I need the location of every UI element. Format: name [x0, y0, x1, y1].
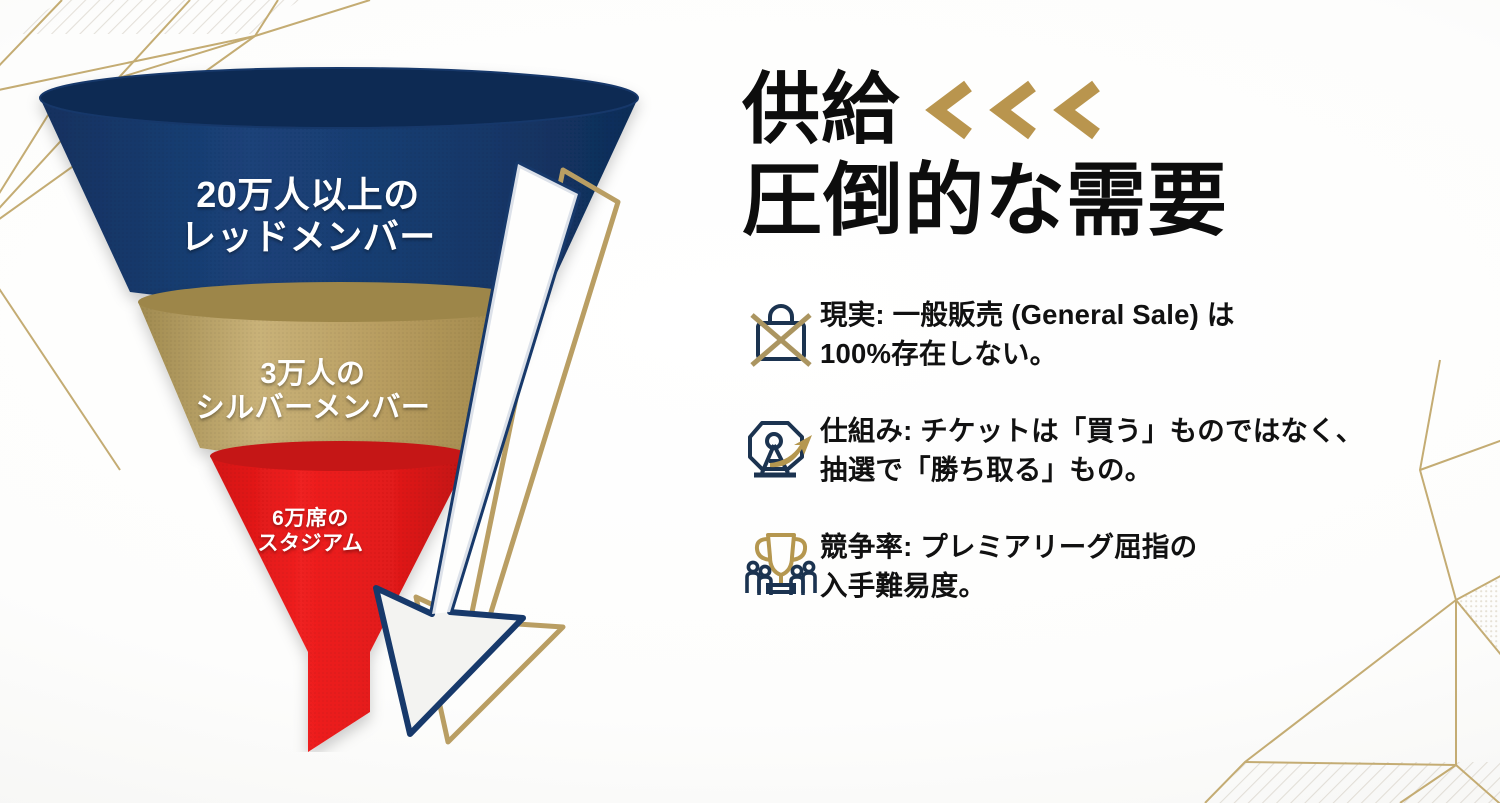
headline: 供給 圧倒的な需要 — [742, 70, 1462, 241]
no-shopping-bag-icon — [742, 293, 820, 369]
bullet-text: 仕組み: チケットは「買う」ものではなく、 抽選で「勝ち取る」もの。 — [820, 409, 1364, 489]
slide-canvas: 20万人以上の レッドメンバー 3万人の シルバーメンバー 6万席の スタジアム… — [0, 0, 1500, 803]
headline-line-2: 圧倒的な需要 — [742, 160, 1228, 242]
bullet-text: 競争率: プレミアリーグ屈指の 入手難易度。 — [820, 525, 1197, 605]
content-column: 供給 圧倒的な需要 — [742, 70, 1462, 641]
bullet-list: 現実: 一般販売 (General Sale) は 100%存在しない。 仕組み… — [742, 293, 1462, 605]
chevron-left-icon — [1050, 78, 1106, 142]
hatch-band-top-left — [10, 0, 300, 34]
chevron-left-icons — [922, 78, 1106, 142]
hatch-band-bottom-right — [1212, 762, 1500, 803]
trophy-crowd-icon — [742, 525, 820, 601]
headline-line-1: 供給 — [742, 70, 900, 150]
bullet-item: 仕組み: チケットは「買う」ものではなく、 抽選で「勝ち取る」もの。 — [742, 409, 1462, 489]
bullet-text: 現実: 一般販売 (General Sale) は 100%存在しない。 — [820, 293, 1235, 373]
chevron-left-icon — [986, 78, 1042, 142]
chevron-left-icon — [922, 78, 978, 142]
bullet-item: 競争率: プレミアリーグ屈指の 入手難易度。 — [742, 525, 1462, 605]
bullet-item: 現実: 一般販売 (General Sale) は 100%存在しない。 — [742, 293, 1462, 373]
conversion-funnel: 20万人以上の レッドメンバー 3万人の シルバーメンバー 6万席の スタジアム — [18, 52, 718, 752]
lottery-draw-icon — [742, 409, 820, 485]
dot-texture-right — [1456, 560, 1500, 690]
